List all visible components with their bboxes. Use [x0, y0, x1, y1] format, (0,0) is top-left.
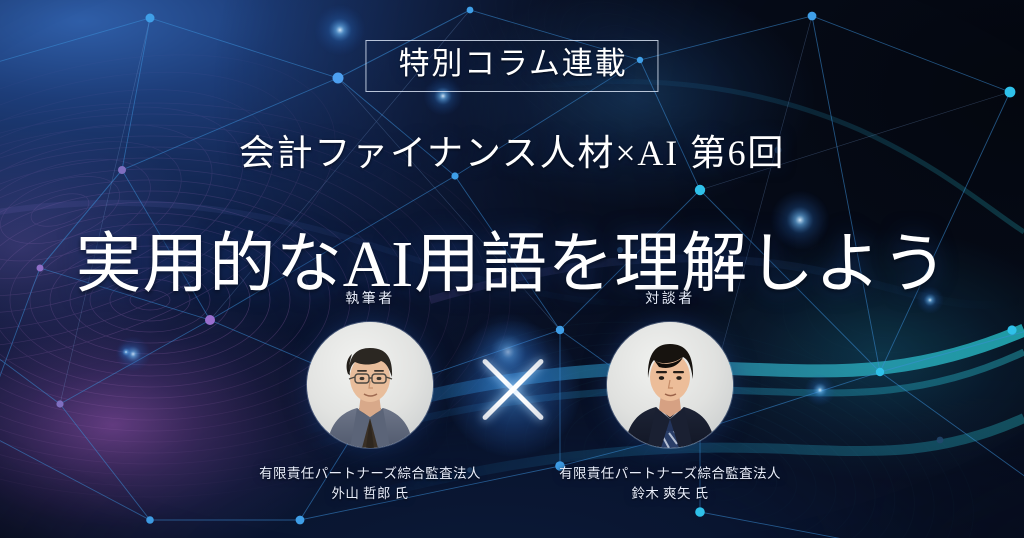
affiliation-text: 有限責任パートナーズ綜合監査法人: [245, 464, 495, 484]
series-badge: 特別コラム連載: [365, 40, 658, 92]
portrait-guest-illustration: [607, 322, 733, 448]
person-caption-guest: 有限責任パートナーズ綜合監査法人 鈴木 爽矢 氏: [545, 464, 795, 505]
page-title: 実用的なAI用語を理解しよう: [76, 230, 949, 300]
cross-separator-icon: [479, 355, 547, 423]
avatar-author: [307, 322, 433, 448]
portrait-author-illustration: [307, 322, 433, 448]
person-card-guest: 対談者: [545, 288, 795, 505]
person-role-label: 対談者: [545, 288, 795, 308]
person-name: 外山 哲郎 氏: [245, 484, 495, 504]
avatar-guest: [607, 322, 733, 448]
person-role-label: 執筆者: [245, 288, 495, 308]
person-caption-author: 有限責任パートナーズ綜合監査法人 外山 哲郎 氏: [245, 464, 495, 505]
person-name: 鈴木 爽矢 氏: [545, 484, 795, 504]
affiliation-text: 有限責任パートナーズ綜合監査法人: [545, 464, 795, 484]
column-banner: 特別コラム連載 会計ファイナンス人材×AI 第6回 実用的なAI用語を理解しよう…: [0, 0, 1024, 538]
series-subtitle: 会計ファイナンス人材×AI 第6回: [239, 124, 785, 176]
